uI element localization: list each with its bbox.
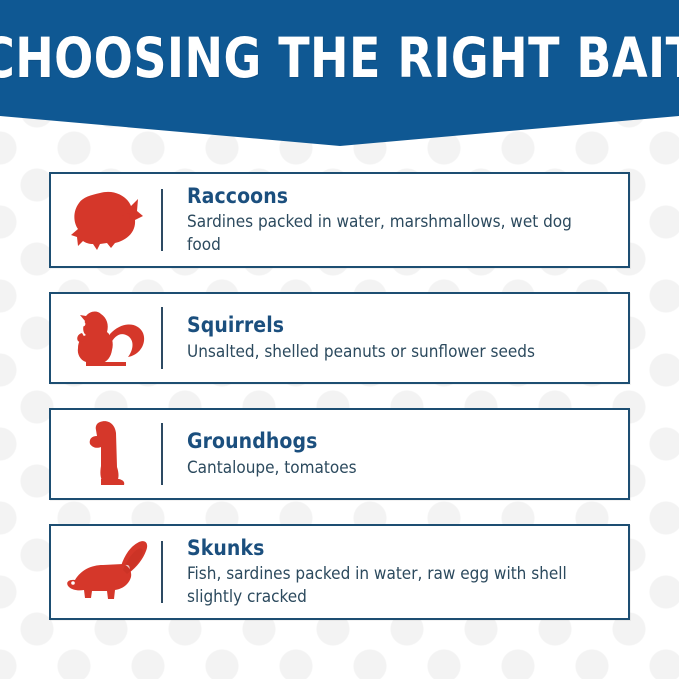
card-text-block: Skunks Fish, sardines packed in water, r… <box>163 536 628 607</box>
skunk-icon <box>51 526 161 618</box>
card-text-block: Groundhogs Cantaloupe, tomatoes <box>163 429 628 478</box>
card-description: Sardines packed in water, marshmallows, … <box>187 211 607 255</box>
card-heading: Skunks <box>187 536 616 560</box>
card-description: Fish, sardines packed in water, raw egg … <box>187 563 607 607</box>
bait-card-groundhogs[interactable]: Groundhogs Cantaloupe, tomatoes <box>49 408 630 500</box>
bait-card-list: Raccoons Sardines packed in water, marsh… <box>49 172 630 644</box>
bait-card-raccoons[interactable]: Raccoons Sardines packed in water, marsh… <box>49 172 630 268</box>
card-heading: Squirrels <box>187 313 616 337</box>
bait-card-squirrels[interactable]: Squirrels Unsalted, shelled peanuts or s… <box>49 292 630 384</box>
groundhog-icon <box>51 410 161 498</box>
card-description: Unsalted, shelled peanuts or sunflower s… <box>187 341 607 363</box>
header-banner <box>0 0 679 146</box>
card-heading: Raccoons <box>187 184 616 208</box>
card-description: Cantaloupe, tomatoes <box>187 457 607 479</box>
card-text-block: Raccoons Sardines packed in water, marsh… <box>163 184 628 255</box>
squirrel-icon <box>51 294 161 382</box>
card-heading: Groundhogs <box>187 429 616 453</box>
raccoon-icon <box>51 174 161 266</box>
bait-infographic: CHOOSING THE RIGHT BAIT Raccoons Sardine… <box>0 0 679 679</box>
card-text-block: Squirrels Unsalted, shelled peanuts or s… <box>163 313 628 362</box>
bait-card-skunks[interactable]: Skunks Fish, sardines packed in water, r… <box>49 524 630 620</box>
